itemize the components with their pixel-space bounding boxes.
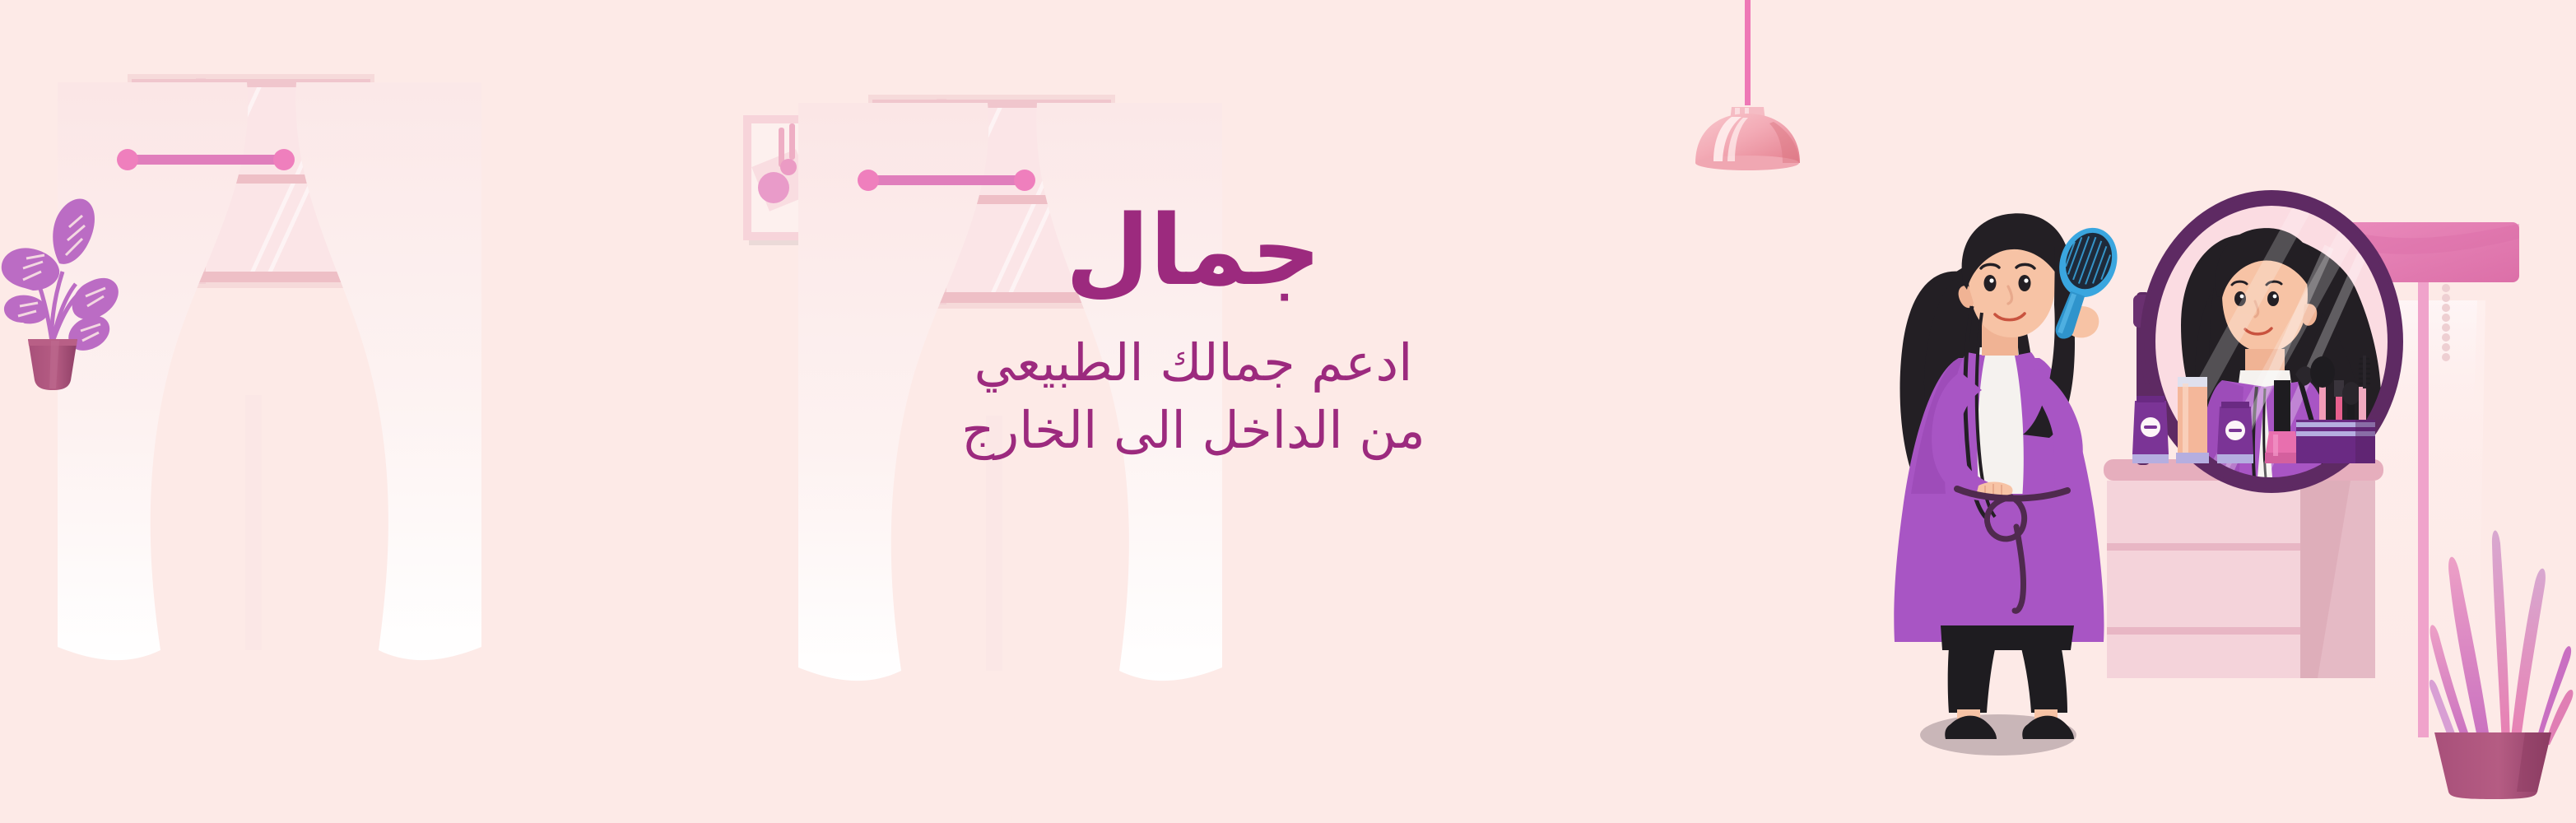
drawer-line-1 — [2107, 543, 2300, 551]
drawer-line-2 — [2107, 627, 2300, 635]
foundation-bottle — [2176, 377, 2209, 463]
lamp-cord — [1745, 0, 1751, 105]
eye-left-glint — [1989, 278, 1993, 282]
cosmetic-tube-1 — [2132, 396, 2169, 463]
blind-pole — [2418, 282, 2429, 737]
curtain-rod-finial-right — [273, 149, 295, 170]
curtain-left-group — [58, 82, 481, 823]
holder-shadow — [2355, 420, 2375, 463]
curtain-rod-right-finial-left — [858, 170, 879, 191]
pants-waist — [1941, 625, 2074, 650]
curtain-right-hem-mask-a — [798, 664, 1012, 823]
vanity-dresser — [2104, 459, 2383, 678]
beauty-banner: جمال ادعم جمالك الطبيعي من الداخل الى ال… — [0, 0, 2576, 823]
curtain-rod-left — [123, 155, 288, 165]
cosmetic-tube-2 — [2217, 402, 2253, 463]
eye-right-glint — [2024, 278, 2028, 282]
curtain-right-gap — [986, 416, 1002, 671]
banner-illustration — [0, 0, 2576, 823]
curtain-right-hem-mask — [272, 644, 481, 823]
curtain-left-hem-mask — [58, 644, 272, 823]
eye-right — [2019, 275, 2031, 291]
curtain-right-hem-mask-b — [1012, 664, 1222, 823]
curtain-rod-right — [864, 175, 1029, 185]
curtain-rod-finial-left — [117, 149, 138, 170]
eye-left — [1984, 275, 1997, 291]
curtain-rod-right-finial-right — [1014, 170, 1035, 191]
curtain-left-gap — [245, 395, 262, 650]
